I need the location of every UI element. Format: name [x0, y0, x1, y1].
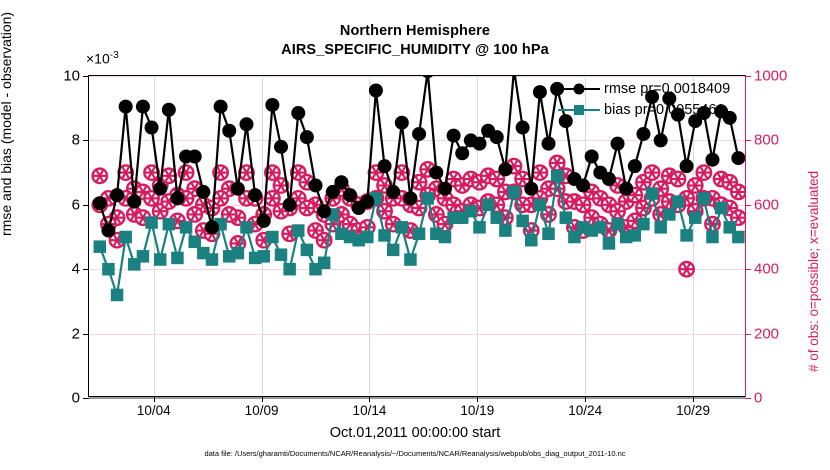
bias-point-marker: [551, 170, 564, 183]
rmse-point-marker: [145, 121, 159, 135]
square-marker-icon: [574, 105, 584, 115]
bias-point-marker: [378, 229, 391, 242]
y-axis-right-tick: [745, 398, 751, 399]
obs-count-marker: [610, 204, 624, 218]
y-axis-left-tick-label: 10: [63, 68, 80, 85]
obs-count-marker: [645, 165, 659, 179]
bias-point-marker: [102, 263, 115, 276]
chart-title-line2: AIRS_SPECIFIC_HUMIDITY @ 100 hPa: [0, 41, 830, 60]
y-axis-right-tick: [745, 76, 751, 77]
rmse-point-marker: [611, 137, 625, 151]
rmse-point-marker: [472, 137, 486, 151]
bias-point-marker: [439, 231, 452, 244]
rmse-point-marker: [490, 130, 504, 144]
plot-area: 0246810 02004006008001000 10/0410/0910/1…: [88, 75, 746, 397]
x-axis-title: Oct.01,2011 00:00:00 start: [0, 425, 830, 441]
data-series-layer: [89, 76, 745, 396]
rmse-point-marker: [257, 214, 271, 228]
y-axis-left-tick-label: 8: [72, 132, 80, 149]
obs-count-marker: [697, 165, 711, 179]
rmse-point-marker: [438, 182, 452, 196]
bias-point-marker: [490, 211, 503, 224]
rmse-point-marker: [654, 133, 668, 147]
rmse-point-marker: [369, 83, 383, 97]
bias-point-marker: [145, 216, 158, 229]
rmse-point-marker: [628, 159, 642, 173]
rmse-point-marker: [524, 182, 538, 196]
rmse-point-marker: [576, 178, 590, 192]
legend-bias-sample: [556, 99, 602, 120]
y-axis-left-tick-label: 4: [72, 261, 80, 278]
bias-point-marker: [689, 211, 702, 224]
obs-count-marker: [265, 191, 279, 205]
rmse-point-marker: [110, 188, 124, 202]
rmse-point-marker: [309, 178, 323, 192]
bias-point-marker: [137, 250, 150, 263]
bias-point-marker: [154, 253, 167, 265]
rmse-point-marker: [188, 150, 202, 164]
obs-count-marker: [550, 156, 564, 170]
series-svg: [89, 76, 745, 396]
obs-count-marker: [679, 262, 693, 276]
y-axis-right-tick: [745, 205, 751, 206]
obs-count-marker: [533, 165, 547, 179]
y-axis-right-tick-label: 400: [754, 261, 779, 278]
bias-point-marker: [232, 247, 245, 260]
obs-count-marker: [300, 201, 314, 215]
bias-point-marker: [594, 221, 607, 234]
bias-point-marker: [646, 187, 659, 200]
y-axis-left-tick-label: 6: [72, 196, 80, 213]
rmse-point-marker: [542, 137, 556, 151]
rmse-point-marker: [153, 182, 167, 196]
x-axis-tick-label: 10/04: [137, 403, 171, 418]
y-axis-right-tick: [745, 334, 751, 335]
obs-count-marker: [188, 207, 202, 221]
rmse-point-marker: [248, 188, 262, 202]
bias-point-marker: [413, 228, 426, 241]
bias-point-marker: [525, 234, 538, 247]
y-axis-right-tick-label: 800: [754, 132, 779, 149]
x-axis-tick: [154, 396, 155, 402]
y-axis-right-tick-label: 200: [754, 325, 779, 342]
x-axis-tick: [693, 396, 694, 402]
bias-point-marker: [275, 248, 288, 261]
rmse-point-marker: [127, 195, 141, 209]
obs-count-marker: [576, 198, 590, 212]
rmse-point-marker: [274, 140, 288, 154]
bias-point-marker: [499, 224, 512, 237]
rmse-point-marker: [429, 166, 443, 180]
rmse-point-marker: [455, 146, 469, 160]
bias-point-marker: [680, 229, 693, 242]
rmse-point-marker: [705, 153, 719, 167]
rmse-point-marker: [283, 198, 297, 212]
legend-rmse-sample: [556, 78, 602, 99]
x-axis-tick-label: 10/29: [676, 403, 710, 418]
rmse-point-marker: [447, 129, 461, 143]
rmse-point-marker: [507, 76, 521, 77]
bias-point-marker: [318, 257, 331, 270]
rmse-point-marker: [395, 116, 409, 130]
y-axis-right-title: # of obs: o=possible; x=evaluated: [806, 171, 821, 372]
obs-count-marker: [93, 169, 107, 183]
legend-item-bias: bias pr=0.0055466: [556, 99, 746, 120]
bias-point-marker: [258, 250, 271, 263]
y-axis-left-tick-label: 0: [72, 390, 80, 407]
rmse-point-marker: [222, 124, 236, 138]
bias-point-marker: [698, 192, 711, 205]
rmse-point-marker: [93, 196, 107, 210]
bias-point-marker: [240, 221, 253, 234]
bias-point-marker: [516, 215, 529, 228]
rmse-point-marker: [636, 127, 650, 141]
bias-point-marker: [404, 253, 417, 265]
y-axis-left-title: rmse and bias (model - observation): [0, 12, 14, 236]
obs-count-marker: [688, 178, 702, 192]
bias-point-marker: [715, 202, 728, 215]
rmse-point-marker: [412, 127, 426, 141]
rmse-point-marker: [119, 100, 133, 114]
bias-point-marker: [292, 224, 305, 237]
rmse-point-marker: [239, 117, 253, 131]
bias-point-marker: [473, 221, 486, 234]
y-axis-right-tick-label: 0: [754, 390, 762, 407]
x-axis-tick: [262, 396, 263, 402]
bias-point-marker: [163, 218, 176, 231]
legend-bias-label: bias pr=0.0055466: [602, 102, 725, 118]
bias-point-marker: [603, 237, 616, 250]
rmse-point-marker: [516, 121, 530, 135]
bias-point-marker: [111, 289, 124, 302]
obs-count-marker: [550, 182, 564, 196]
bias-point-marker: [283, 263, 296, 276]
rmse-point-marker: [680, 159, 694, 173]
bias-point-marker: [421, 192, 434, 205]
bias-point-marker: [534, 199, 547, 212]
exponent-power: -3: [110, 50, 119, 61]
bias-point-marker: [732, 231, 745, 244]
x-axis-tick-label: 10/14: [353, 403, 387, 418]
y-axis-right-tick: [745, 140, 751, 141]
rmse-point-marker: [162, 103, 176, 117]
rmse-point-marker: [265, 98, 279, 112]
bias-point-marker: [706, 231, 719, 244]
rmse-point-marker: [205, 220, 219, 234]
circle-marker-icon: [574, 83, 585, 94]
rmse-point-marker: [136, 100, 150, 114]
rmse-point-marker: [498, 162, 512, 176]
bias-point-marker: [542, 228, 555, 241]
rmse-point-marker: [343, 188, 357, 202]
rmse-point-marker: [602, 172, 616, 186]
bias-point-marker: [301, 244, 314, 257]
bias-point-marker: [465, 205, 478, 218]
rmse-point-marker: [585, 150, 599, 164]
rmse-point-marker: [731, 151, 745, 165]
obs-count-marker: [671, 172, 685, 186]
x-axis-tick: [477, 396, 478, 402]
rmse-point-marker: [360, 195, 374, 209]
bias-point-marker: [508, 186, 521, 199]
bias-point-marker: [637, 218, 650, 231]
x-axis-tick: [369, 396, 370, 402]
x-axis-tick-label: 10/09: [245, 403, 279, 418]
rmse-point-marker: [386, 185, 400, 199]
bias-point-marker: [482, 199, 495, 212]
bias-point-marker: [396, 221, 409, 234]
rmse-point-marker: [334, 175, 348, 189]
y-axis-right-tick-label: 600: [754, 196, 779, 213]
y-axis-exponent-label: ×10-3: [86, 50, 119, 67]
chart-canvas: Northern Hemisphere AIRS_SPECIFIC_HUMIDI…: [0, 0, 830, 470]
y-axis-right-tick: [745, 269, 751, 270]
bias-point-marker: [180, 221, 193, 234]
x-axis-tick-label: 10/19: [460, 403, 494, 418]
rmse-point-marker: [619, 182, 633, 196]
data-file-note: data file: /Users/gharamti/Documents/NCA…: [0, 449, 830, 458]
bias-point-marker: [361, 231, 374, 244]
rmse-point-marker: [403, 191, 417, 205]
zero-reference-line: [89, 397, 745, 399]
bias-point-marker: [171, 252, 184, 265]
y-axis-left-tick-label: 2: [72, 325, 80, 342]
bias-point-marker: [206, 253, 219, 265]
bias-point-marker: [629, 229, 642, 242]
bias-point-marker: [266, 231, 279, 244]
x-axis-tick: [585, 396, 586, 402]
chart-title-block: Northern Hemisphere AIRS_SPECIFIC_HUMIDI…: [0, 22, 830, 60]
rmse-point-marker: [533, 85, 547, 99]
rmse-point-marker: [196, 185, 210, 199]
chart-legend: rmse pr=0.0018409 bias pr=0.0055466: [556, 78, 746, 122]
rmse-point-marker: [170, 191, 184, 205]
bias-point-marker: [560, 211, 573, 224]
x-axis-tick-label: 10/24: [568, 403, 602, 418]
bias-point-marker: [387, 244, 400, 257]
bias-point-marker: [188, 236, 201, 249]
rmse-point-marker: [291, 106, 305, 120]
legend-item-rmse: rmse pr=0.0018409: [556, 78, 746, 99]
rmse-point-marker: [231, 182, 245, 196]
exponent-base: ×10: [86, 51, 110, 67]
rmse-point-marker: [378, 159, 392, 173]
bias-point-marker: [119, 231, 131, 244]
obs-count-marker: [213, 191, 227, 205]
y-axis-left-tick: [83, 398, 89, 399]
rmse-point-marker: [214, 100, 228, 114]
chart-title-line1: Northern Hemisphere: [0, 22, 830, 41]
rmse-point-marker: [101, 224, 115, 238]
rmse-point-marker: [317, 204, 331, 218]
legend-rmse-label: rmse pr=0.0018409: [602, 81, 730, 97]
bias-point-marker: [663, 208, 676, 221]
bias-point-marker: [654, 221, 667, 234]
bias-point-marker: [672, 195, 685, 208]
y-axis-right-tick-label: 1000: [754, 68, 787, 85]
rmse-point-marker: [300, 130, 314, 144]
obs-count-marker: [731, 185, 745, 199]
bias-point-marker: [611, 218, 624, 231]
rmse-point-marker: [421, 76, 435, 78]
bias-point-marker: [94, 240, 107, 253]
